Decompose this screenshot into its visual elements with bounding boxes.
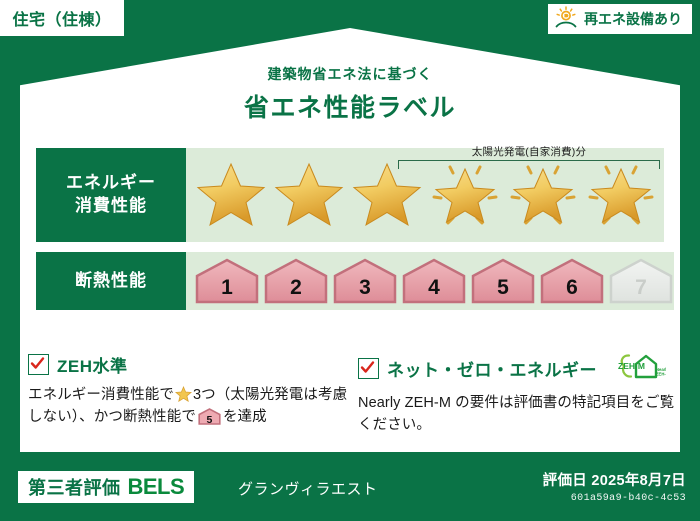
insulation-level-value: 3 (359, 276, 371, 304)
insulation-performance-row: 断熱性能 1 2 (36, 252, 664, 310)
insulation-level-value: 5 (497, 276, 509, 304)
renewable-badge-label: 再エネ設備あり (584, 9, 682, 29)
star-rating (186, 152, 660, 238)
bels-jp-label: 第三者評価 (28, 474, 121, 500)
insulation-level-icon: 5 (198, 408, 221, 425)
net-zero-title: ネット・ゼロ・エネルギー (387, 356, 597, 381)
check-icon (28, 354, 49, 375)
solar-sun-icon (554, 6, 578, 33)
zeh-body-part1: エネルギー消費性能で (28, 387, 174, 403)
star-item (192, 152, 270, 238)
insulation-level-value: 6 (566, 276, 578, 304)
star-icon (175, 386, 192, 402)
energy-row-body: 太陽光発電(自家消費)分 (186, 148, 664, 242)
star-item-solar (582, 152, 660, 238)
svg-text:ZEH·M: ZEH·M (618, 361, 645, 371)
insulation-level-item: 2 (263, 258, 329, 304)
net-zero-body: Nearly ZEH-M の要件は評価書の特記項目をご覧ください。 (358, 392, 678, 437)
category-badge-label: 住宅（住棟） (12, 6, 111, 30)
insulation-level-item: 6 (539, 258, 605, 304)
insulation-level-value: 7 (635, 276, 647, 304)
insulation-level-value: 4 (428, 276, 440, 304)
evaluation-id: 601a59a9-b40c-4c53 (543, 493, 686, 504)
evaluation-date: 評価日 2025年8月7日 (543, 469, 686, 490)
info-section: ZEH水準 エネルギー消費性能で3つ（太陽光発電は考慮しない）、かつ断熱性能で5… (28, 352, 678, 437)
title-subtitle: 建築物省エネ法に基づく (0, 64, 700, 84)
bels-badge: 第三者評価 BELS (18, 471, 194, 503)
zeh-standard-body: エネルギー消費性能で3つ（太陽光発電は考慮しない）、かつ断熱性能で5を達成 (28, 384, 348, 429)
category-badge: 住宅（住棟） (0, 0, 124, 36)
energy-label-line1: エネルギー (66, 172, 156, 195)
building-name: グランヴィラエスト (238, 478, 378, 499)
evaluation-info: 評価日 2025年8月7日 601a59a9-b40c-4c53 (543, 469, 686, 504)
insulation-level-icon-value: 5 (198, 415, 221, 426)
title-main: 省エネ性能ラベル (0, 88, 700, 124)
page-title: 建築物省エネ法に基づく 省エネ性能ラベル (0, 64, 700, 124)
renewable-equipment-badge: 再エネ設備あり (548, 4, 692, 34)
star-item-solar (426, 152, 504, 238)
zeh-standard-title: ZEH水準 (57, 352, 128, 377)
star-item-solar (504, 152, 582, 238)
star-item (270, 152, 348, 238)
zeh-standard-block: ZEH水準 エネルギー消費性能で3つ（太陽光発電は考慮しない）、かつ断熱性能で5… (28, 352, 348, 437)
footer: 第三者評価 BELS グランヴィラエスト 評価日 2025年8月7日 601a5… (0, 459, 700, 521)
insulation-level-item-inactive: 7 (608, 258, 674, 304)
insulation-row-label: 断熱性能 (36, 252, 186, 310)
bels-en-label: BELS (128, 474, 185, 500)
insulation-row-body: 1 2 3 4 5 (186, 252, 674, 310)
check-icon (358, 358, 379, 379)
net-zero-energy-block: ネット・ゼロ・エネルギー ZEH·M Nearly ZEH-M Nearly Z… (358, 352, 678, 437)
svg-text:ZEH-M: ZEH-M (656, 372, 666, 377)
energy-label-line2: 消費性能 (75, 195, 147, 218)
zeh-body-part3: を達成 (223, 409, 267, 425)
energy-performance-label: 住宅（住棟） 再エネ設備あり 建築物省エネ法に基づく 省エネ性能ラベル (0, 0, 700, 521)
energy-row-label: エネルギー 消費性能 (36, 148, 186, 242)
insulation-label: 断熱性能 (75, 270, 147, 293)
insulation-level-item: 4 (401, 258, 467, 304)
energy-performance-row: エネルギー 消費性能 太陽光発電(自家消費)分 (36, 148, 664, 242)
net-zero-header: ネット・ゼロ・エネルギー ZEH·M Nearly ZEH-M (358, 352, 678, 385)
zeh-m-logo-icon: ZEH·M Nearly ZEH-M (610, 352, 666, 385)
insulation-level-item: 1 (194, 258, 260, 304)
insulation-level-value: 2 (290, 276, 302, 304)
star-item (348, 152, 426, 238)
insulation-level-item: 3 (332, 258, 398, 304)
rating-rows: エネルギー 消費性能 太陽光発電(自家消費)分 (36, 148, 664, 320)
zeh-standard-header: ZEH水準 (28, 352, 348, 377)
insulation-level-item: 5 (470, 258, 536, 304)
insulation-level-value: 1 (221, 276, 233, 304)
insulation-scale: 1 2 3 4 5 (186, 258, 674, 304)
